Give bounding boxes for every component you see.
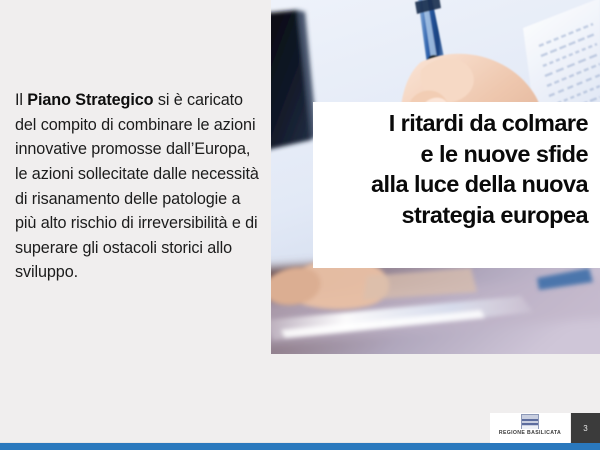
footer-accent-bar xyxy=(0,443,600,450)
slide-title-band: I ritardi da colmare e le nuove sfide al… xyxy=(313,102,600,268)
title-line-3: alla luce della nuova xyxy=(326,169,588,200)
emblem-band-bottom xyxy=(522,426,538,429)
title-line-1: I ritardi da colmare xyxy=(326,108,588,139)
emblem-band-top xyxy=(522,419,538,421)
regione-basilicata-emblem-icon xyxy=(521,414,539,429)
presentation-slide: Il Piano Strategico si è caricato del co… xyxy=(0,0,600,450)
title-line-2: e le nuove sfide xyxy=(326,139,588,170)
body-text-lead: Il xyxy=(15,91,27,109)
body-text-bold-phrase: Piano Strategico xyxy=(27,91,153,109)
slide-number-badge: 3 xyxy=(571,413,600,443)
footer-logo: REGIONE BASILICATA xyxy=(490,413,570,443)
slide-body-text: Il Piano Strategico si è caricato del co… xyxy=(15,88,265,285)
body-text-rest: si è caricato del compito di combinare l… xyxy=(15,91,259,281)
emblem-band-middle xyxy=(522,423,538,425)
slide-title: I ritardi da colmare e le nuove sfide al… xyxy=(326,108,588,230)
footer-logo-caption: REGIONE BASILICATA xyxy=(490,430,570,436)
title-line-4: strategia europea xyxy=(326,200,588,231)
